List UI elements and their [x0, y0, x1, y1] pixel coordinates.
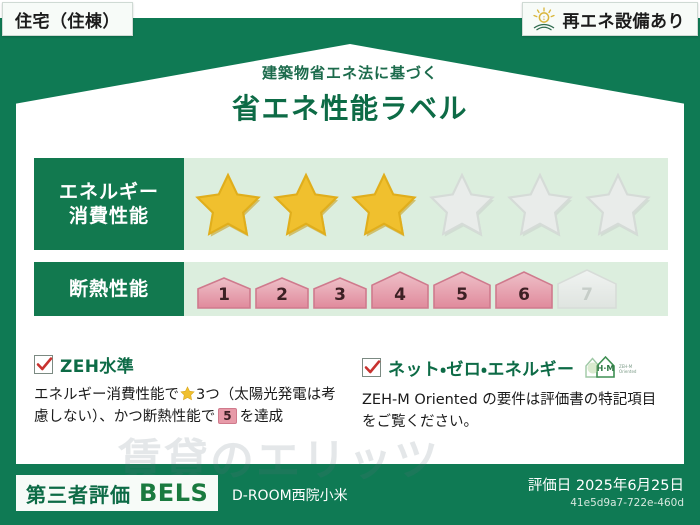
insulation-level-badge: 4: [370, 270, 430, 310]
evaluation-id: 41e5d9a7-722e-460d: [528, 497, 684, 509]
svg-text:Oriented: Oriented: [619, 369, 637, 374]
energy-label-line1: エネルギー: [59, 180, 159, 204]
star-empty-icon: [580, 167, 656, 241]
energy-performance-label-box: エネルギー 消費性能: [34, 158, 184, 250]
building-type-tab[interactable]: 住宅（住棟）: [2, 2, 133, 36]
energy-performance-label: 住宅（住棟） ｴ 再エネ設備あり 建築物省エネ法に基づく 省エネ性能ラベル: [0, 0, 700, 525]
property-name: D-ROOM西院小米: [232, 485, 348, 505]
net-zero-energy-note: ネット・ゼロ・エネルギー H·M ZEH-M Oriented ZEH-M Or…: [362, 352, 670, 434]
bels-jp-label: 第三者評価: [26, 479, 131, 508]
insulation-level-number: 1: [196, 285, 252, 305]
headline-title: 省エネ性能ラベル: [0, 87, 700, 127]
insulation-level-number: 6: [494, 285, 554, 305]
insulation-label-line1: 断熱性能: [69, 277, 149, 301]
insulation-level-badge: 3: [312, 276, 368, 310]
renewable-equipment-label: 再エネ設備あり: [563, 7, 686, 32]
insulation-level-badge: 2: [254, 276, 310, 310]
net-zero-energy-heading: ネット・ゼロ・エネルギー H·M ZEH-M Oriented: [362, 352, 670, 382]
insulation-level-badge: 6: [494, 270, 554, 310]
insulation-performance-row: 断熱性能 1234567: [34, 262, 668, 316]
insulation-level-badge: 7: [556, 268, 618, 310]
svg-text:ｴ: ｴ: [542, 16, 545, 22]
insulation-level-number: 7: [556, 285, 618, 305]
inline-star-icon: [180, 386, 195, 401]
zeh-standard-note: ZEH水準 エネルギー消費性能で3つ（太陽光発電は考慮しない）、かつ断熱性能で5…: [34, 352, 342, 434]
star-empty-icon: [424, 167, 500, 241]
zeh-body-part3: を達成: [240, 409, 284, 425]
insulation-level-number: 3: [312, 285, 368, 305]
insulation-level-number: 4: [370, 285, 430, 305]
insulation-level-badge: 1: [196, 276, 252, 310]
star-filled-icon: [268, 167, 344, 241]
star-filled-icon: [190, 167, 266, 241]
checkbox-checked-icon: [34, 355, 53, 374]
zeh-body-part1: エネルギー消費性能で: [34, 387, 179, 403]
checkbox-checked-icon: [362, 358, 381, 377]
insulation-level-scale: 1234567: [196, 268, 618, 310]
building-type-label: 住宅（住棟）: [15, 7, 120, 32]
insulation-level-number: 5: [432, 285, 492, 305]
svg-text:H·M: H·M: [597, 364, 615, 373]
certification-notes: ZEH水準 エネルギー消費性能で3つ（太陽光発電は考慮しない）、かつ断熱性能で5…: [34, 352, 670, 434]
star-filled-icon: [346, 167, 422, 241]
sun-icon: ｴ: [531, 7, 557, 31]
energy-performance-row: エネルギー 消費性能: [34, 158, 668, 250]
zeh-standard-body: エネルギー消費性能で3つ（太陽光発電は考慮しない）、かつ断熱性能で5を達成: [34, 384, 342, 429]
net-zero-energy-title: ネット・ゼロ・エネルギー: [388, 355, 574, 380]
zeh-standard-heading: ZEH水準: [34, 352, 342, 377]
star-empty-icon: [502, 167, 578, 241]
insulation-performance-label-box: 断熱性能: [34, 262, 184, 316]
label-headline: 建築物省エネ法に基づく 省エネ性能ラベル: [0, 62, 700, 127]
energy-label-line2: 消費性能: [69, 204, 149, 228]
net-zero-energy-body: ZEH-M Oriented の要件は評価書の特記項目をご覧ください。: [362, 389, 670, 434]
star-rating: [190, 167, 656, 241]
zeh-standard-title: ZEH水準: [60, 352, 134, 377]
inline-insulation-badge: 5: [218, 408, 236, 424]
zeh-m-oriented-logo-icon: H·M ZEH-M Oriented: [583, 352, 639, 382]
headline-subtitle: 建築物省エネ法に基づく: [0, 62, 700, 83]
metric-rows: エネルギー 消費性能 断熱性能 1234567: [34, 158, 668, 328]
renewable-equipment-tab[interactable]: ｴ 再エネ設備あり: [522, 2, 699, 36]
insulation-level-badge: 5: [432, 270, 492, 310]
evaluation-info: 評価日 2025年6月25日 41e5d9a7-722e-460d: [528, 474, 684, 509]
bels-en-label: BELS: [139, 479, 208, 507]
insulation-level-number: 2: [254, 285, 310, 305]
bels-badge: 第三者評価 BELS: [16, 475, 218, 511]
zeh-star-count: 3つ: [196, 387, 220, 403]
evaluation-date: 評価日 2025年6月25日: [528, 474, 684, 495]
energy-performance-value: [184, 158, 668, 250]
insulation-performance-value: 1234567: [184, 262, 668, 316]
